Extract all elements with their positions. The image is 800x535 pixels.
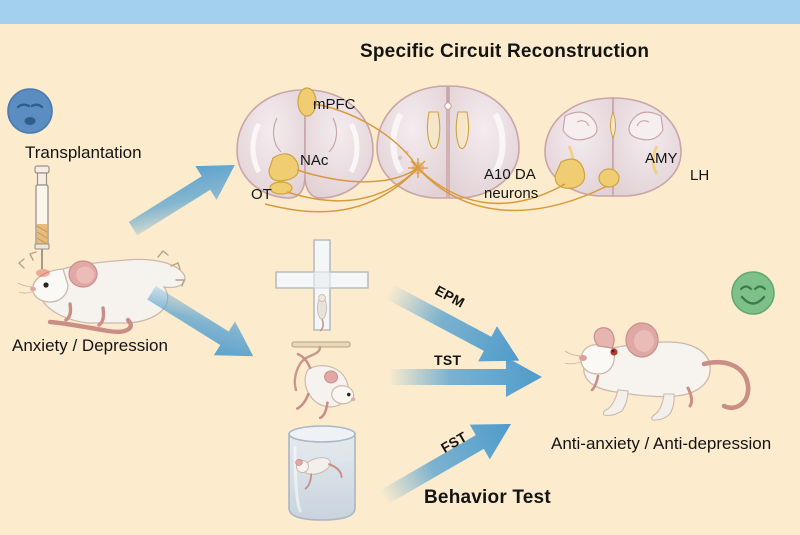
transplantation-label: Transplantation (25, 143, 142, 163)
region-label-lh: LH (690, 167, 709, 184)
condition-label: Anxiety / Depression (12, 336, 168, 356)
test-label-fst: FST (438, 428, 470, 456)
figure-canvas: Specific Circuit Reconstruction Transpla… (0, 0, 800, 530)
region-label-a10-da-line2: neurons (484, 185, 538, 202)
sad-face-icon (6, 86, 54, 136)
region-label-a10-da: A10 DA (484, 166, 536, 183)
test-label-epm: EPM (432, 282, 467, 311)
region-label-ot: OT (251, 186, 272, 203)
arrow-tst (388, 355, 568, 405)
outcome-label: Anti-anxiety / Anti-depression (551, 434, 771, 454)
a10-origin (408, 158, 428, 178)
arrow-to-circuit (130, 140, 265, 235)
region-label-nac: NAc (300, 152, 328, 169)
arrow-epm (388, 278, 568, 358)
region-label-amy: AMY (645, 150, 678, 167)
brain-section-hindbrain (545, 98, 681, 196)
elevated-plus-maze-icon (272, 238, 372, 338)
forced-swim-beaker-icon (277, 422, 367, 524)
test-label-tst: TST (434, 352, 461, 368)
top-banner (0, 0, 800, 24)
healthy-mouse-icon (556, 302, 796, 428)
region-label-mpfc: mPFC (313, 96, 356, 113)
tail-suspension-icon (276, 340, 372, 422)
behavior-test-title: Behavior Test (424, 487, 551, 509)
page-title: Specific Circuit Reconstruction (360, 41, 649, 63)
mouse-icon (8, 230, 198, 335)
